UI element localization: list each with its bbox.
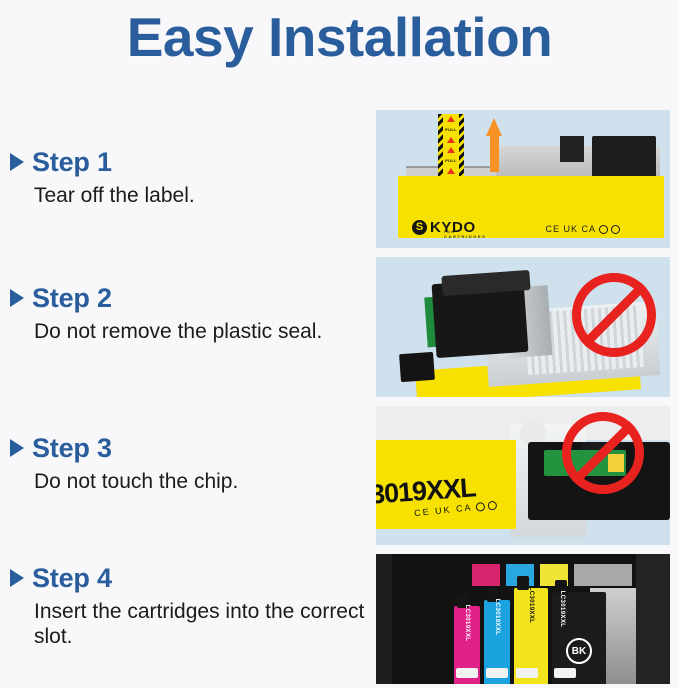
cartridge-cyan: LC3019XXL <box>484 600 510 684</box>
printer-black-module-small <box>560 136 584 162</box>
installation-guide-page: Easy Installation Step 1 Tear off the la… <box>0 0 679 688</box>
step-3-heading: Step 3 <box>10 434 370 464</box>
cartridge-label: LC3019XXL <box>528 587 534 624</box>
step-item-2: Step 2 Do not remove the plastic seal. <box>10 284 370 344</box>
photo-step4-printer-slots: LC3019XXL LC3019XXL LC3019XXL LC3019XXL <box>376 554 670 684</box>
pull-arrow-icon <box>447 168 455 174</box>
photo-column: PULL PULL S KYDO INK CARTRIDGES CE UK CA <box>376 110 670 684</box>
prohibition-icon <box>562 412 644 494</box>
photo-step1-tear-label: PULL PULL S KYDO INK CARTRIDGES CE UK CA <box>376 110 670 248</box>
ce-mark-text: CE UK CA <box>545 224 596 234</box>
cartridge-yellow: LC3019XXL <box>514 588 548 684</box>
triangle-right-icon <box>10 439 24 457</box>
step-item-1: Step 1 Tear off the label. <box>10 148 370 208</box>
cartridge-label: LC3019XXL <box>559 591 565 628</box>
skydo-s-icon: S <box>412 220 427 235</box>
step-4-title: Step 4 <box>32 564 112 594</box>
pull-arrow-icon <box>447 116 455 122</box>
cartridge-black-tab <box>399 352 435 382</box>
bk-badge: BK <box>566 638 592 664</box>
strip-gray <box>574 564 632 586</box>
printer-interior-left <box>376 554 392 684</box>
step-1-description: Tear off the label. <box>34 183 370 209</box>
pull-tab-label: PULL <box>445 158 457 163</box>
step-1-title: Step 1 <box>32 148 112 178</box>
cartridge-magenta: LC3019XXL <box>454 606 480 684</box>
cartridge-label: LC3019XXL <box>494 599 500 636</box>
strip-magenta <box>472 564 500 586</box>
up-arrow-icon <box>486 118 502 172</box>
recycle-icon <box>599 225 608 234</box>
cartridge-row: LC3019XXL LC3019XXL LC3019XXL LC3019XXL <box>454 588 606 684</box>
step-3-description: Do not touch the chip. <box>34 469 370 495</box>
page-title: Easy Installation <box>0 0 679 74</box>
waste-bin-icon <box>487 500 497 510</box>
prohibition-icon <box>572 273 656 357</box>
step-2-title: Step 2 <box>32 284 112 314</box>
pull-arrow-icon <box>447 147 455 153</box>
brand-logo: S KYDO INK CARTRIDGES <box>412 220 476 235</box>
pull-tab: PULL PULL <box>438 114 464 176</box>
cartridge-yellow-label: CE UK CA 3019XXL <box>376 440 516 529</box>
step-4-description: Insert the cartridges into the correct s… <box>34 599 370 650</box>
cartridge-black: LC3019XXL BK <box>552 592 606 684</box>
steps-column: Step 1 Tear off the label. Step 2 Do not… <box>0 96 372 686</box>
cartridge-yellow-body: S KYDO INK CARTRIDGES CE UK CA <box>398 176 664 238</box>
printer-interior-right <box>636 554 670 684</box>
step-2-description: Do not remove the plastic seal. <box>34 319 370 345</box>
step-2-heading: Step 2 <box>10 284 370 314</box>
step-1-heading: Step 1 <box>10 148 370 178</box>
step-3-title: Step 3 <box>32 434 112 464</box>
pull-tab-label: PULL <box>445 127 457 132</box>
triangle-right-icon <box>10 569 24 587</box>
cartridge-label: LC3019XXL <box>464 605 470 642</box>
pull-arrow-icon <box>447 137 455 143</box>
triangle-right-icon <box>10 153 24 171</box>
photo-step2-plastic-seal <box>376 257 670 397</box>
step-item-4: Step 4 Insert the cartridges into the co… <box>10 564 370 650</box>
step-4-heading: Step 4 <box>10 564 370 594</box>
waste-bin-icon <box>611 225 620 234</box>
compliance-marks: CE UK CA <box>545 224 620 234</box>
brand-subtitle: INK CARTRIDGES <box>444 229 486 239</box>
triangle-right-icon <box>10 289 24 307</box>
photo-step3-chip: CE UK CA 3019XXL <box>376 406 670 545</box>
step-item-3: Step 3 Do not touch the chip. <box>10 434 370 494</box>
color-indicator-strips <box>472 564 632 586</box>
